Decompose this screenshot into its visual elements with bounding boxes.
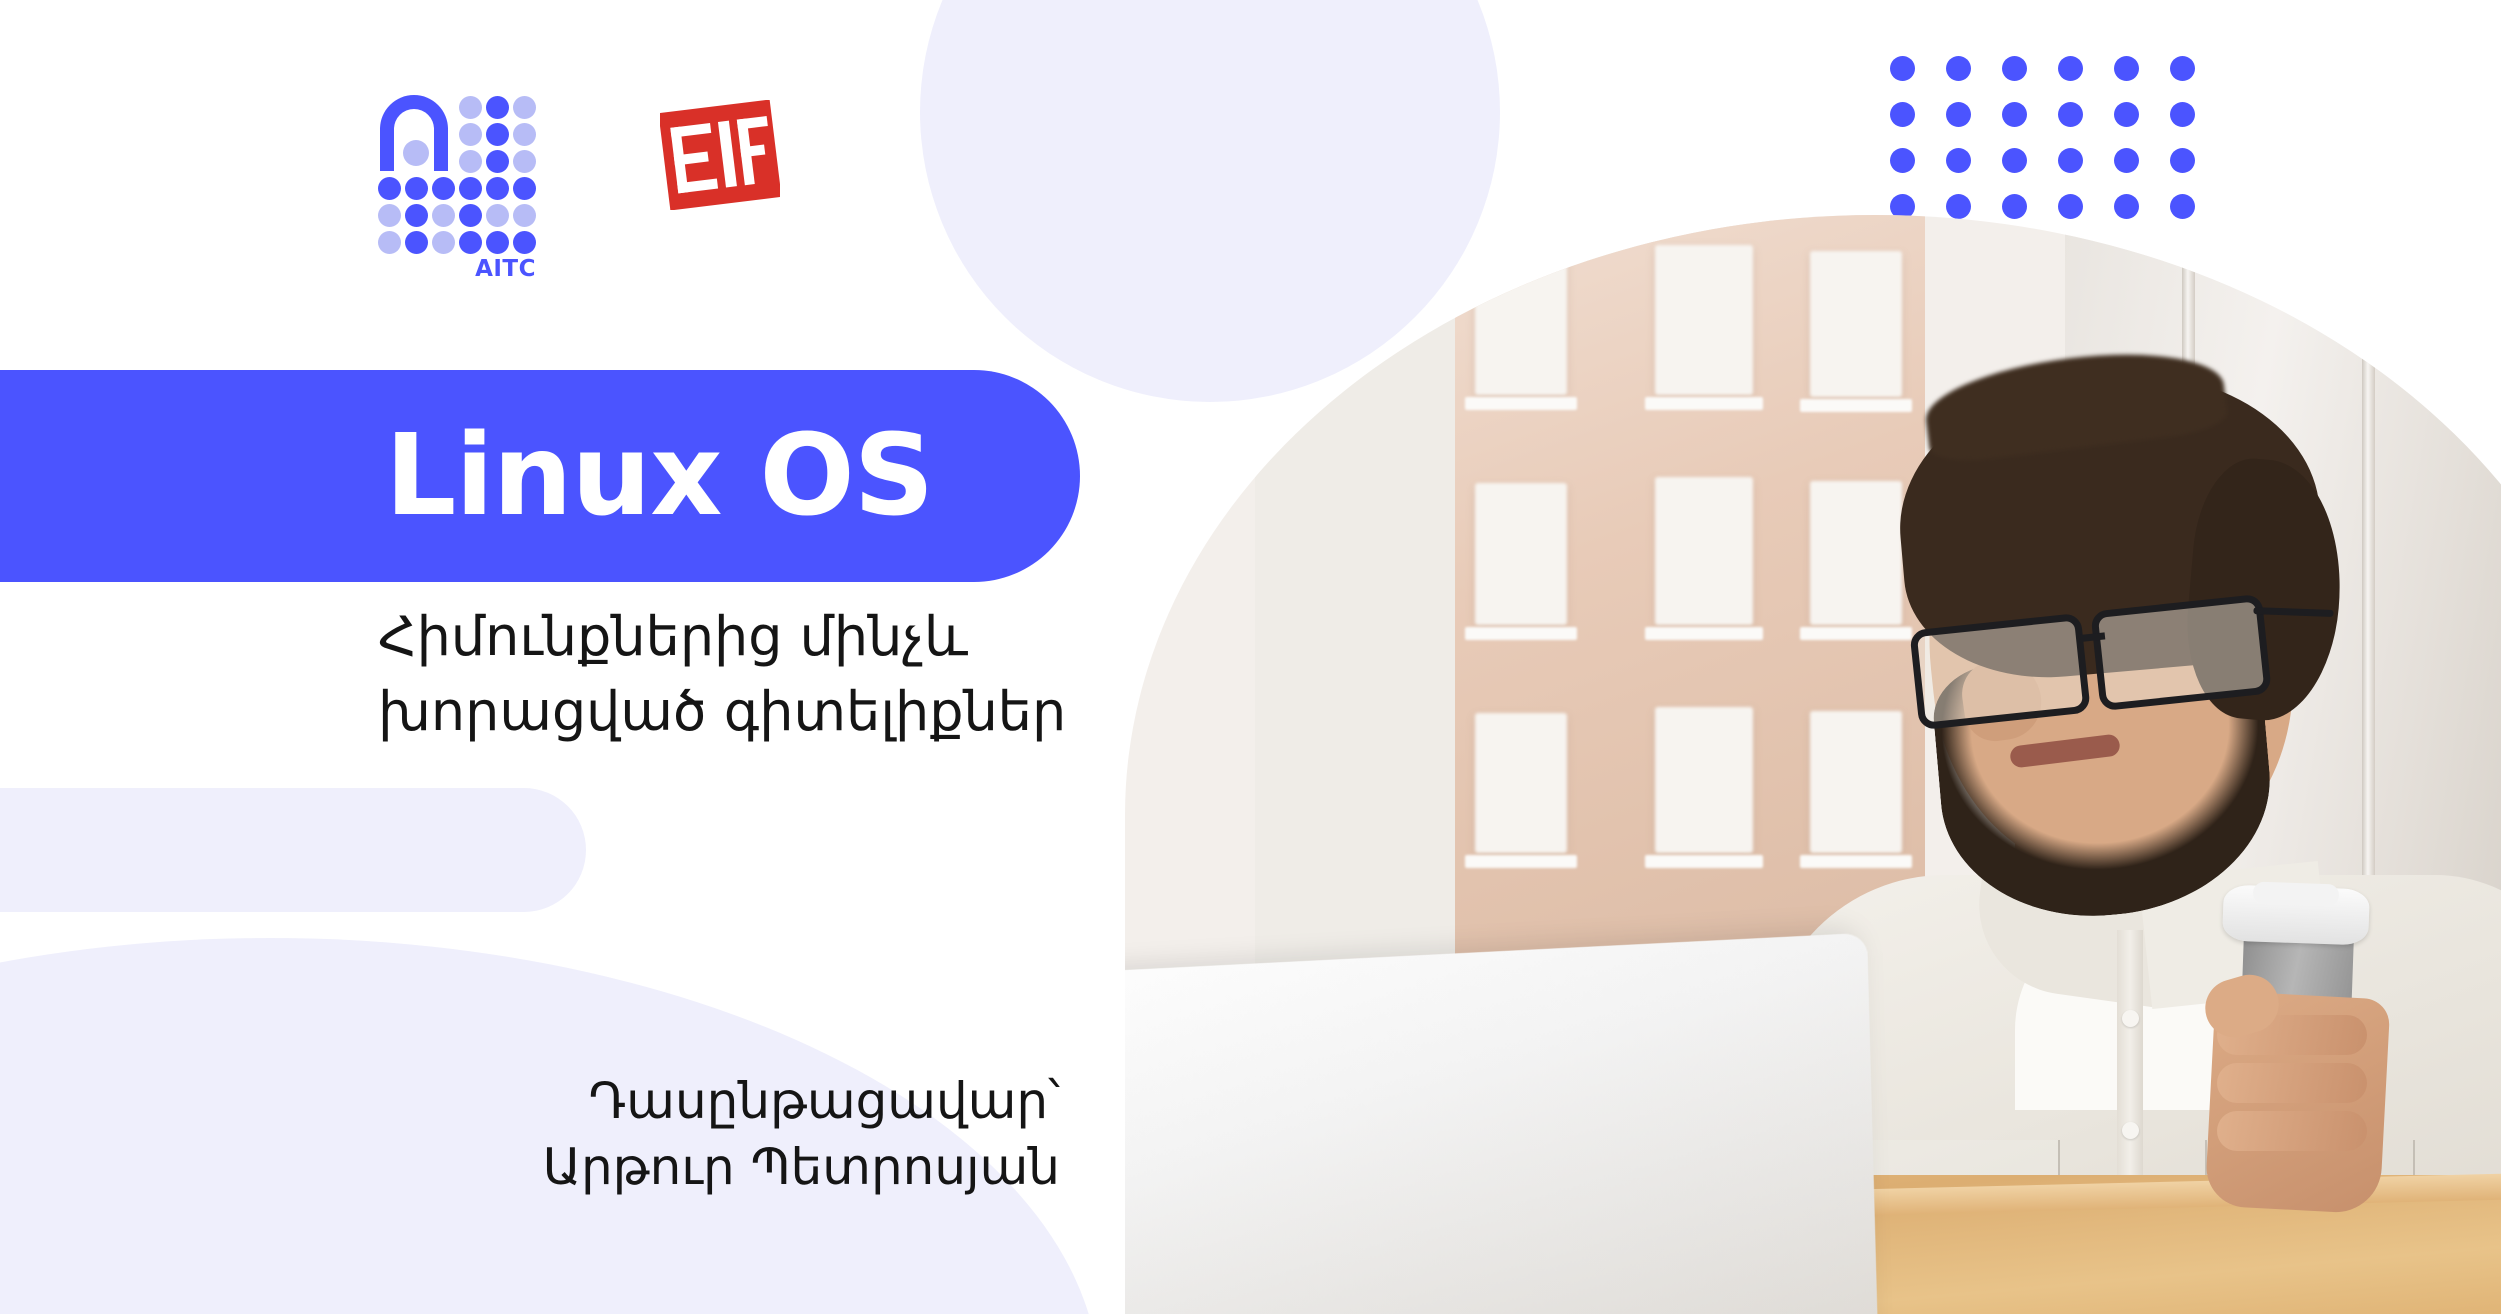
aitc-dot-icon — [378, 231, 401, 254]
aitc-dot-icon — [486, 231, 509, 254]
grid-dot-icon — [1890, 102, 1915, 127]
aitc-dot-icon — [486, 177, 509, 200]
grid-dot-icon — [2114, 148, 2139, 173]
grid-dot-icon — [1946, 56, 1971, 81]
aitc-dot-icon — [459, 177, 482, 200]
grid-dot-icon — [1890, 56, 1915, 81]
title-banner: Linux OS — [0, 370, 1080, 582]
aitc-dot-icon — [486, 96, 509, 119]
logo-row: AITC — [378, 96, 780, 286]
aitc-dot-icon — [513, 123, 536, 146]
grid-dot-icon — [2002, 102, 2027, 127]
aitc-dot-icon — [405, 231, 428, 254]
instructor-name: Արթուր Պետրոսյան — [380, 1134, 1060, 1200]
grid-dot-icon — [2002, 148, 2027, 173]
aitc-dot-icon — [513, 231, 536, 254]
aitc-dot-icon — [513, 150, 536, 173]
aitc-dot-icon — [432, 177, 455, 200]
aitc-dot-icon — [459, 231, 482, 254]
eif-logo — [660, 100, 780, 210]
grid-dot-icon — [1890, 148, 1915, 173]
subtitle-line-1: Հիմունքներից մինչև — [378, 600, 1098, 675]
aitc-dot-icon — [459, 96, 482, 119]
subtitle-line-2: խորացված գիտելիքներ — [378, 675, 1098, 750]
aitc-dot-icon — [513, 204, 536, 227]
grid-dot-icon — [2058, 56, 2083, 81]
aitc-dot-icon — [459, 150, 482, 173]
grid-dot-icon — [2058, 102, 2083, 127]
aitc-dot-icon — [432, 204, 455, 227]
grid-dot-icon — [2058, 148, 2083, 173]
aitc-arch-dot-icon — [403, 140, 429, 166]
aitc-dot-icon — [459, 123, 482, 146]
grid-dot-icon — [2114, 56, 2139, 81]
eif-logo-icon — [660, 100, 780, 210]
grid-dot-icon — [2002, 56, 2027, 81]
aitc-logo-label: AITC — [475, 256, 536, 282]
aitc-dot-icon — [378, 177, 401, 200]
lavender-bar-decoration — [0, 788, 586, 912]
aitc-dot-icon — [486, 150, 509, 173]
subtitle: Հիմունքներից մինչև խորացված գիտելիքներ — [378, 600, 1098, 749]
aitc-dot-icon — [405, 204, 428, 227]
grid-dot-icon — [2170, 102, 2195, 127]
grid-dot-icon — [2114, 102, 2139, 127]
aitc-dot-icon — [486, 204, 509, 227]
aitc-dot-icon — [513, 96, 536, 119]
instructor-photo — [1125, 215, 2501, 1314]
grid-dot-icon — [1946, 148, 1971, 173]
instructor-block: Դասընթացավար՝ Արթուր Պետրոսյան — [380, 1068, 1060, 1200]
aitc-dot-icon — [432, 231, 455, 254]
promo-banner: AITC Linux OS Հիմունքների — [0, 0, 2501, 1314]
aitc-dot-icon — [513, 177, 536, 200]
aitc-dot-icon — [378, 204, 401, 227]
dot-grid-decoration — [1890, 56, 2226, 240]
aitc-logo: AITC — [378, 96, 538, 286]
grid-dot-icon — [2170, 148, 2195, 173]
instructor-label: Դասընթացավար՝ — [380, 1068, 1060, 1134]
aitc-dot-icon — [405, 177, 428, 200]
grid-dot-icon — [1946, 102, 1971, 127]
aitc-dot-icon — [459, 204, 482, 227]
grid-dot-icon — [2170, 56, 2195, 81]
page-title: Linux OS — [385, 420, 933, 532]
aitc-dot-icon — [486, 123, 509, 146]
